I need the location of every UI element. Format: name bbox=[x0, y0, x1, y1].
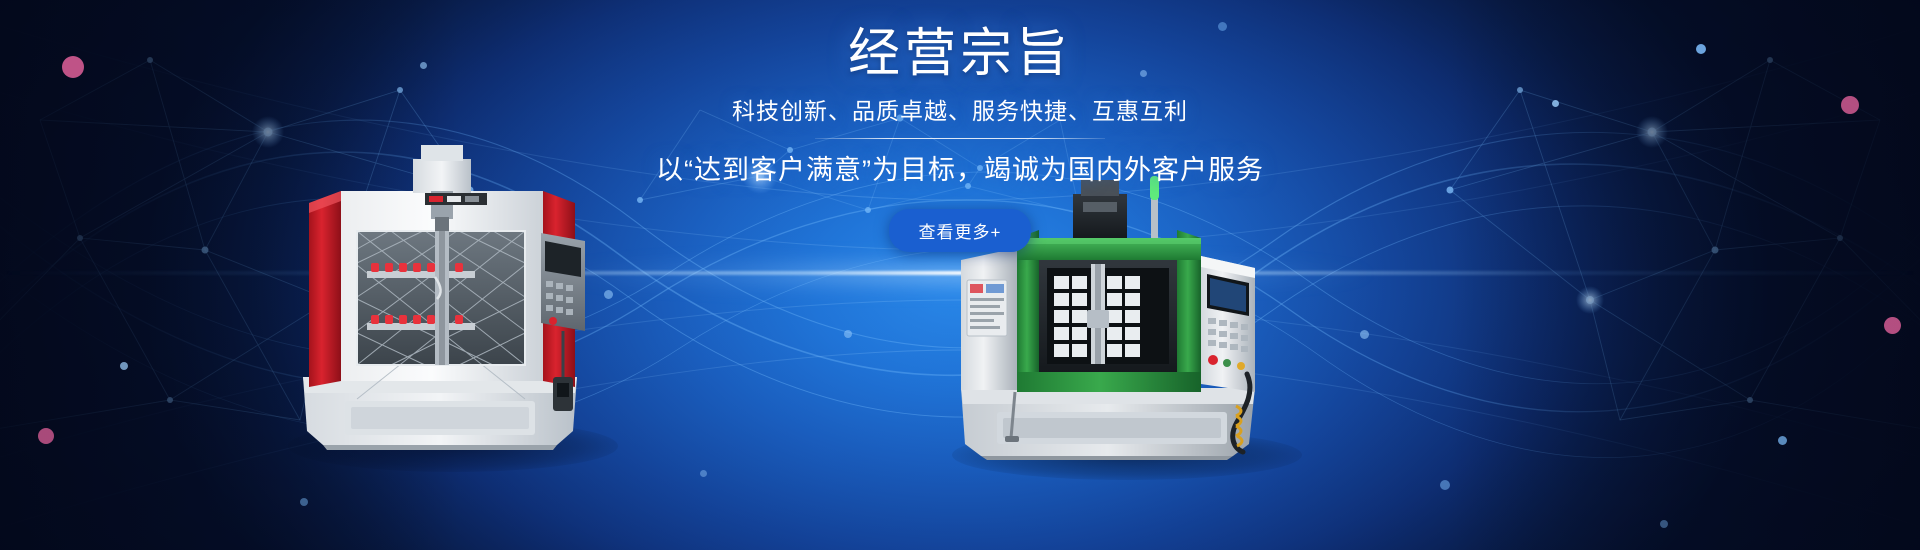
subtitle: 科技创新、品质卓越、服务快捷、互惠互利 bbox=[732, 92, 1188, 126]
view-more-button[interactable]: 查看更多+ bbox=[889, 209, 1032, 252]
hero-copy: 经营宗旨 科技创新、品质卓越、服务快捷、互惠互利 以“达到客户满意”为目标，竭诚… bbox=[0, 26, 1920, 252]
page-title: 经营宗旨 bbox=[848, 26, 1072, 82]
tagline: 以“达到客户满意”为目标，竭诚为国内外客户服务 bbox=[656, 148, 1264, 187]
divider bbox=[815, 138, 1105, 139]
hero-banner: 经营宗旨 科技创新、品质卓越、服务快捷、互惠互利 以“达到客户满意”为目标，竭诚… bbox=[0, 0, 1920, 550]
